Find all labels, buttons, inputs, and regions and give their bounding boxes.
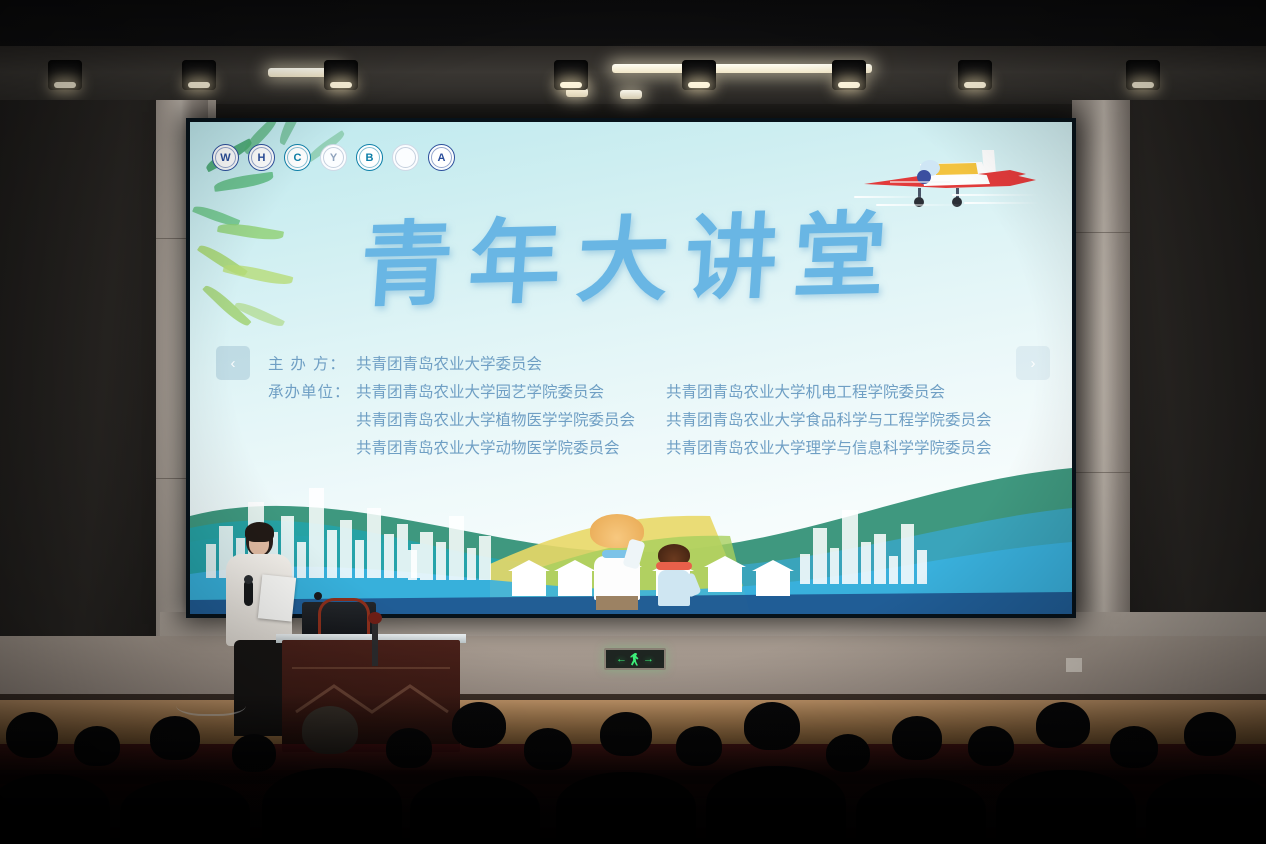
handheld-microphone-icon [244, 580, 253, 606]
floor-microphone [372, 620, 378, 666]
farmer-figure-large [586, 500, 648, 608]
badge-1-icon: W [212, 144, 239, 171]
emergency-exit-sign: ← → [604, 648, 666, 670]
audience-silhouettes [0, 684, 1266, 844]
village-house [756, 570, 790, 596]
exit-left-arrow: ← [616, 654, 627, 665]
running-man-icon [630, 653, 640, 666]
projection-screen: W H C Y B A [190, 122, 1072, 614]
stage-light-fixture [952, 52, 998, 102]
slide-illustration [190, 424, 1072, 614]
organizer-value: 共青团青岛农业大学委员会 [356, 350, 666, 378]
logo-badge-row: W H C Y B A [212, 144, 455, 171]
stage-light-fixture [676, 52, 722, 102]
badge-7-icon: A [428, 144, 455, 171]
carousel-prev-button[interactable]: ‹ [216, 346, 250, 380]
organizer-row: 主 办 方： 共青团青岛农业大学委员会 [268, 350, 1022, 378]
left-dark-wall [0, 100, 160, 720]
organizer-spacer [666, 350, 1022, 378]
gooseneck-microphone-head [314, 592, 322, 600]
village-house [512, 570, 546, 596]
stage-light-fixture [318, 52, 364, 102]
slide-title: 青年大讲堂 [190, 205, 1072, 315]
auditorium-photo: ← → W H C Y B A [0, 0, 1266, 844]
chevron-left-icon: ‹ [231, 355, 236, 372]
co-organizer-row-1: 承办单位： 共青团青岛农业大学园艺学院委员会 共青团青岛农业大学机电工程学院委员… [268, 378, 1022, 406]
organizer-label: 主 办 方： [268, 350, 356, 378]
badge-2-icon: H [248, 144, 275, 171]
chevron-right-icon: › [1031, 355, 1036, 372]
badge-3-icon: C [284, 144, 311, 171]
exit-right-arrow: → [643, 654, 654, 665]
stage-light-fixture [176, 52, 222, 102]
carousel-next-button[interactable]: › [1016, 346, 1050, 380]
co-organizer-left-1: 共青团青岛农业大学园艺学院委员会 [356, 378, 666, 406]
city-skyline-mid [408, 516, 491, 580]
ceiling-light-tube [620, 90, 642, 99]
badge-6-icon [392, 144, 419, 171]
wall-plate [1066, 658, 1082, 672]
ceiling-dark-band [0, 0, 1266, 46]
stage-light-fixture [1120, 52, 1166, 102]
stage-light-fixture [42, 52, 88, 102]
badge-5-icon: B [356, 144, 383, 171]
village-house [708, 566, 742, 592]
projection-screen-frame: W H C Y B A [186, 118, 1076, 618]
city-skyline-right [800, 510, 927, 584]
stage-light-fixture [826, 52, 872, 102]
stage-light-fixture [548, 52, 594, 102]
script-paper [258, 574, 296, 621]
co-organizer-label: 承办单位： [268, 378, 356, 406]
badge-4-icon: Y [320, 144, 347, 171]
presenter-hair [245, 522, 274, 542]
co-organizer-right-1: 共青团青岛农业大学机电工程学院委员会 [666, 378, 1022, 406]
farmer-figure-small [650, 534, 696, 608]
foreground-darkening [0, 694, 1266, 844]
